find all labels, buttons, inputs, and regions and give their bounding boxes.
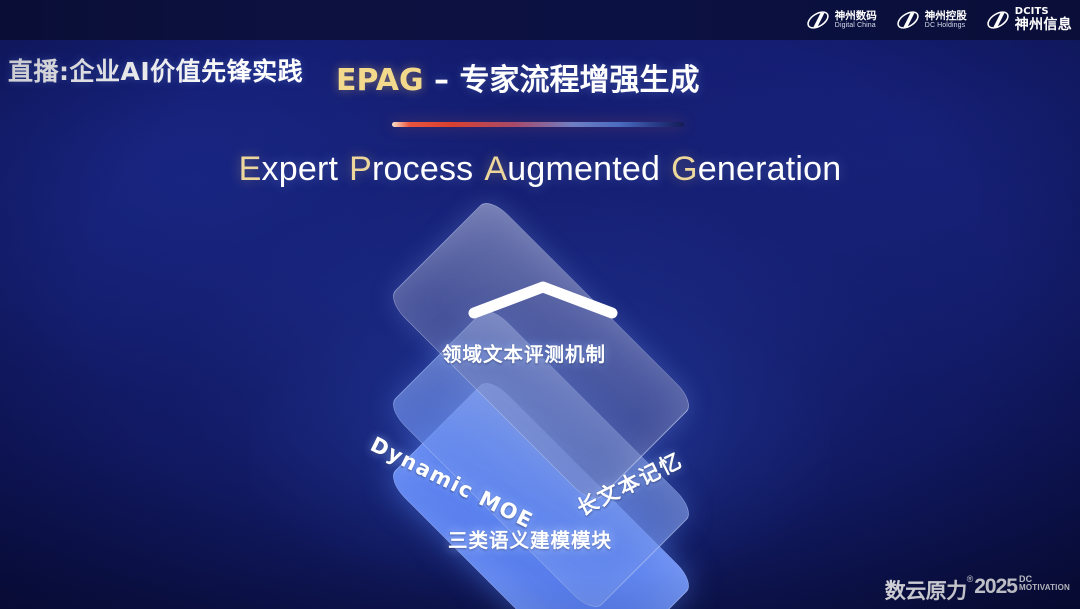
title-dash: – xyxy=(424,63,460,98)
stack-layer-top-label: 领域文本评测机制 xyxy=(442,338,606,367)
partner-name-cn: 神州控股 xyxy=(925,11,967,22)
live-session-title: 直播:企业AI价值先锋实践 xyxy=(8,52,303,88)
partner-text: 神州数码 Digital China xyxy=(835,11,877,29)
subtitle-word-generation: eneration xyxy=(698,150,842,188)
swirl-logo-icon xyxy=(805,7,831,33)
stack-layer-top[interactable]: 领域文本评测机制 xyxy=(320,240,760,460)
page-title: EPAG – 专家流程增强生成 xyxy=(336,55,699,99)
partner-name-cn: 神州数码 xyxy=(835,11,877,22)
partner-logo-digital-china: 神州数码 Digital China xyxy=(805,7,877,33)
subtitle-initial-e: E xyxy=(239,150,262,188)
swirl-logo-icon xyxy=(985,7,1011,33)
subtitle-initial-a: A xyxy=(484,150,507,188)
partner-text: 神州控股 DC Holdings xyxy=(925,11,967,29)
subtitle-initial-g: G xyxy=(671,150,698,188)
subtitle-expansion: ExpertProcessAugmentedGeneration xyxy=(0,150,1080,189)
swirl-logo-icon xyxy=(895,7,921,33)
partner-logo-dc-holdings: 神州控股 DC Holdings xyxy=(895,7,967,33)
gradient-divider xyxy=(392,122,684,127)
slide-canvas: 数云原力®2025 DC MOTIVATION 神州数码 Digital Chi… xyxy=(0,0,1080,609)
subtitle-word-process: rocess xyxy=(372,150,473,188)
partner-name-cn: 神州信息 xyxy=(1015,18,1072,33)
subtitle-word-augmented: ugmented xyxy=(507,150,660,188)
partner-logo-group: 神州数码 Digital China 神州控股 DC Holdings DCIT… xyxy=(805,5,1072,35)
subtitle-word-expert: xpert xyxy=(262,150,339,188)
partner-name-en: DC Holdings xyxy=(925,22,967,29)
stack-layer-bottom-label: 三类语义建模模块 xyxy=(448,524,612,553)
chevron-up-icon xyxy=(468,280,618,320)
partner-logo-dcits: DCITS 神州信息 xyxy=(985,7,1072,33)
title-abbrev: EPAG xyxy=(336,63,424,98)
title-chinese: 专家流程增强生成 xyxy=(459,63,699,98)
subtitle-initial-p: P xyxy=(349,150,372,188)
partner-name-en: Digital China xyxy=(835,22,877,29)
partner-text: DCITS 神州信息 xyxy=(1015,7,1072,32)
